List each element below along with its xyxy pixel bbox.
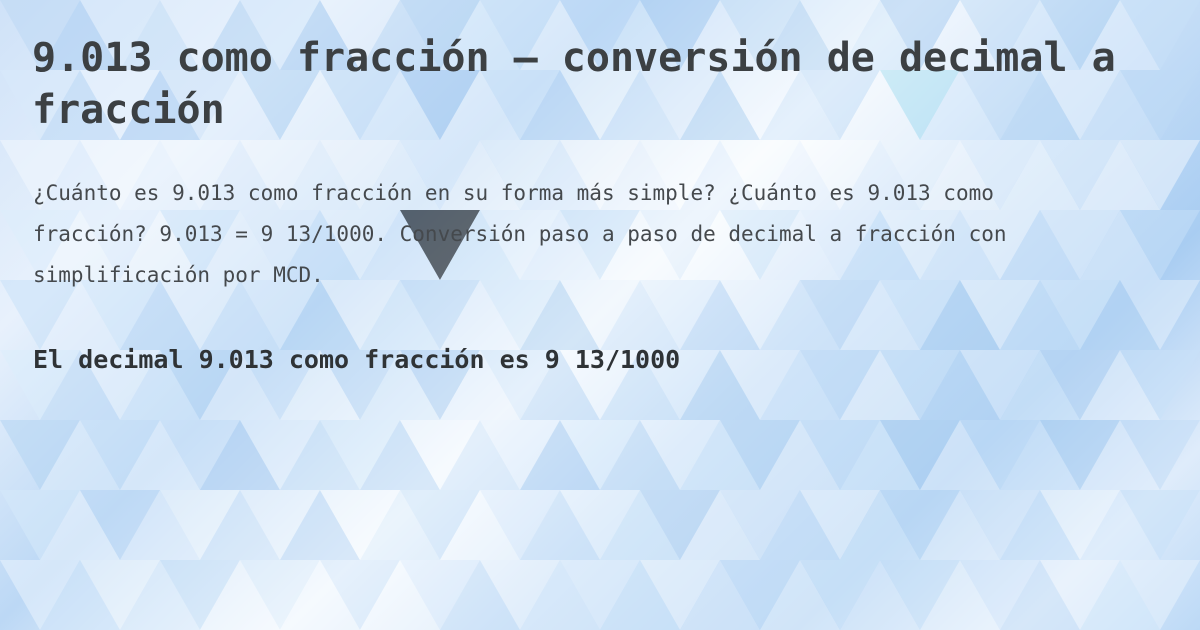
answer-statement: El decimal 9.013 como fracción es 9 13/1… bbox=[33, 345, 1133, 374]
footer-bar: 0.375 3/8 Conversión Decimal a Fracciona… bbox=[0, 545, 1200, 630]
page-title: 9.013 como fracción – conversión de deci… bbox=[32, 32, 1132, 136]
description-paragraph: ¿Cuánto es 9.013 como fracción en su for… bbox=[33, 173, 1113, 296]
poster-card: 9.013 como fracción – conversión de deci… bbox=[0, 0, 1200, 630]
poster-content: 9.013 como fracción – conversión de deci… bbox=[0, 0, 1200, 630]
